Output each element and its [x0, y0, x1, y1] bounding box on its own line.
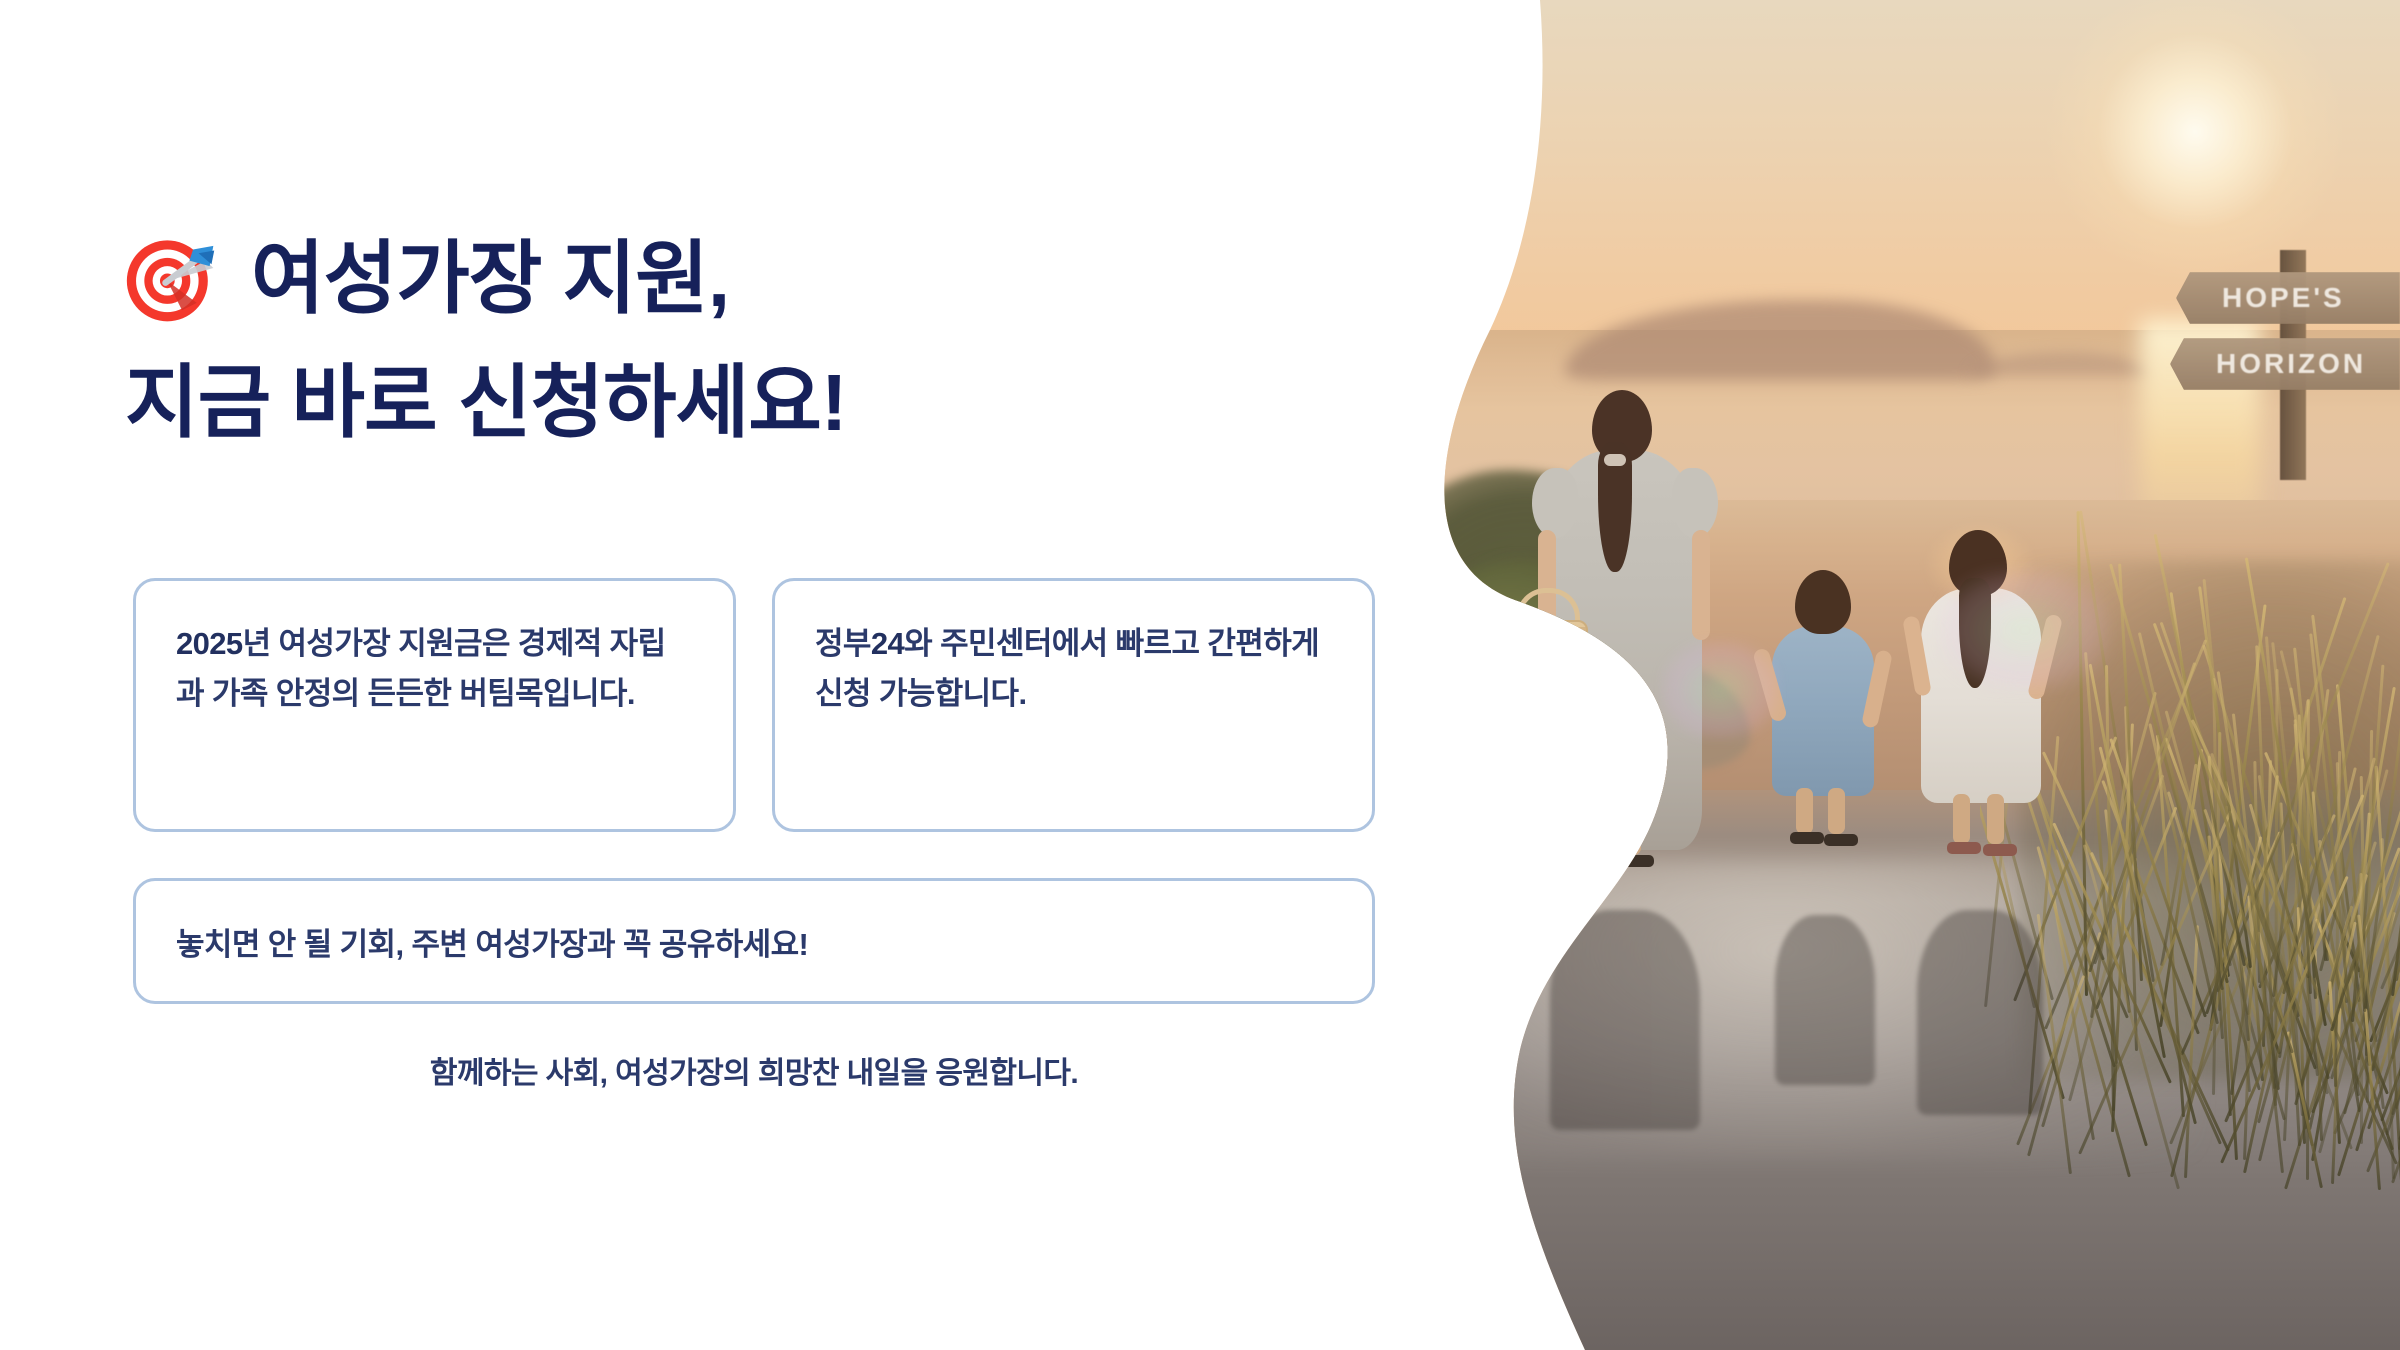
signpost-board-top: HOPE'S [2176, 272, 2400, 324]
mother-sleeve-right [1672, 468, 1718, 538]
info-cards-row: 2025년 여성가장 지원금은 경제적 자립과 가족 안정의 든든한 버팀목입니… [133, 578, 1375, 832]
mother-reflection [1530, 900, 1720, 1130]
promo-banner: HOPE'S HORIZON [0, 0, 2400, 1350]
card-support-fund-rest: 년 여성가장 지원금은 경제적 자립과 가족 안정의 든든한 버팀목입니다. [176, 626, 666, 711]
girl-legs [1953, 794, 2015, 860]
mother-sleeve-left [1532, 468, 1578, 538]
mother-hair-tie [1604, 454, 1626, 466]
boy-legs [1796, 788, 1856, 850]
card-share-callout[interactable]: 놓치면 안 될 기회, 주변 여성가장과 꼭 공유하세요! [133, 878, 1375, 1004]
card-how-to-apply[interactable]: 정부24와 주민센터에서 빠르고 간편하게 신청 가능합니다. [772, 578, 1375, 832]
girl-reflection [1905, 900, 2055, 1115]
hero-photo: HOPE'S HORIZON [1380, 0, 2400, 1350]
headline-line-1: 여성가장 지원, [251, 232, 729, 326]
footer-slogan: 함께하는 사회, 여성가장의 희망찬 내일을 응원합니다. [133, 1048, 1375, 1092]
mother-figure [1530, 390, 1720, 860]
card-share-callout-text: 놓치면 안 될 기회, 주변 여성가장과 꼭 공유하세요! [176, 919, 808, 964]
signpost-text-line1: HOPE'S [2222, 282, 2345, 314]
basket-handle [1516, 588, 1580, 637]
card-support-fund-text: 2025년 여성가장 지원금은 경제적 자립과 가족 안정의 든든한 버팀목입니… [176, 619, 693, 719]
headline-line-2: 지금 바로 신청하세요! [125, 356, 1275, 450]
boy-dress [1772, 626, 1874, 796]
page-title: 여성가장 지원, 지금 바로 신청하세요! [125, 232, 1275, 451]
signpost: HOPE'S HORIZON [2140, 250, 2400, 480]
signpost-text-line2: HORIZON [2216, 348, 2366, 380]
grass-blade [2360, 873, 2363, 1144]
card-how-to-apply-text: 정부24와 주민센터에서 빠르고 간편하게 신청 가능합니다. [815, 619, 1332, 719]
lens-flare [1660, 640, 1780, 740]
mother-arm-right [1692, 530, 1710, 640]
lens-flare-2 [1940, 570, 2110, 690]
signpost-board-bottom: HORIZON [2170, 338, 2400, 390]
boy-reflection [1765, 905, 1885, 1085]
card-support-fund-highlight: 2025 [176, 626, 243, 661]
target-dart-icon [125, 233, 217, 325]
card-how-to-apply-highlight: 24 [871, 626, 904, 661]
card-support-fund[interactable]: 2025년 여성가장 지원금은 경제적 자립과 가족 안정의 든든한 버팀목입니… [133, 578, 736, 832]
boy-head [1795, 570, 1851, 634]
woven-basket [1502, 620, 1588, 714]
mother-arm-left [1538, 530, 1556, 640]
card-how-to-apply-lead: 정부 [815, 626, 871, 661]
content-column: 여성가장 지원, 지금 바로 신청하세요! 2025년 여성가장 지원금은 경제… [0, 0, 1400, 1350]
mother-legs [1588, 815, 1658, 867]
